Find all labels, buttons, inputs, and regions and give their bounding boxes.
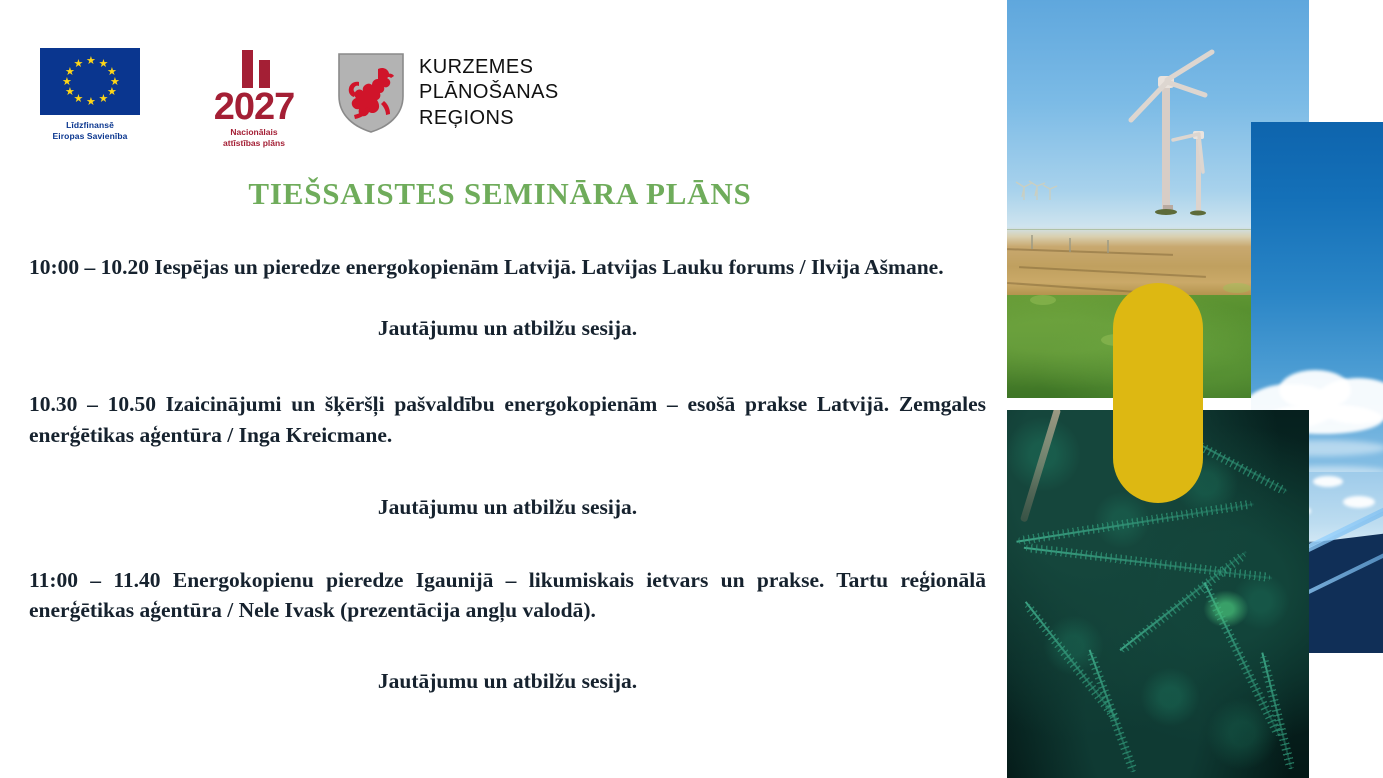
yellow-pill-shape: [1113, 283, 1203, 503]
agenda-item: 11:00 – 11.40 Energokopienu pieredze Iga…: [29, 565, 986, 697]
eu-star-icon: ★: [86, 57, 95, 66]
eu-star-icon: ★: [65, 68, 74, 77]
agenda-qa-text: Jautājumu un atbilžu sesija.: [29, 313, 986, 344]
eu-star-icon: ★: [107, 88, 116, 97]
agenda-item: 10:00 – 10.20 Iespējas un pieredze energ…: [29, 252, 986, 343]
kurzeme-coat-of-arms-icon: [337, 52, 405, 134]
logo-bar: ★ ★ ★ ★ ★ ★ ★ ★ ★ ★ ★ ★ Līdzfinansē Eiro…: [36, 48, 559, 148]
agenda-list: 10:00 – 10.20 Iespējas un pieredze energ…: [29, 252, 986, 698]
eu-caption-line-2: Eiropas Savienība: [53, 131, 128, 142]
nap-year-label: 2027: [214, 89, 295, 125]
eu-star-icon: ★: [86, 98, 95, 107]
eu-logo-caption: Līdzfinansē Eiropas Savienība: [53, 120, 128, 141]
eu-star-icon: ★: [62, 78, 71, 87]
nap-2027-logo: 2027 Nacionālais attīstības plāns: [199, 48, 309, 148]
kurzeme-planning-region-logo: KURZEMES PLĀNOŠANAS REĢIONS: [337, 48, 559, 134]
nap-caption-line-2: attīstības plāns: [223, 138, 285, 149]
eu-star-icon: ★: [74, 60, 83, 69]
nap-bars-icon: [238, 50, 270, 88]
agenda-entry-text: 10.30 – 10.50 Izaicinājumi un šķēršļi pa…: [29, 389, 986, 450]
agenda-qa-text: Jautājumu un atbilžu sesija.: [29, 666, 986, 697]
agenda-item: 10.30 – 10.50 Izaicinājumi un šķēršļi pa…: [29, 389, 986, 523]
eu-star-icon: ★: [65, 88, 74, 97]
kurzeme-region-label: KURZEMES PLĀNOŠANAS REĢIONS: [419, 55, 559, 132]
eu-logo: ★ ★ ★ ★ ★ ★ ★ ★ ★ ★ ★ ★ Līdzfinansē Eiro…: [36, 48, 144, 141]
photo-collage: [1007, 0, 1383, 778]
agenda-entry-text: 10:00 – 10.20 Iespējas un pieredze energ…: [29, 252, 986, 283]
page-title: TIEŠSAISTES SEMINĀRA PLĀNS: [0, 176, 1000, 212]
eu-star-icon: ★: [99, 95, 108, 104]
nap-caption-line-1: Nacionālais: [223, 127, 285, 138]
agenda-qa-text: Jautājumu un atbilžu sesija.: [29, 492, 986, 523]
leaf-rosette-icon: [1197, 585, 1255, 633]
european-union-flag-icon: ★ ★ ★ ★ ★ ★ ★ ★ ★ ★ ★ ★: [40, 48, 140, 115]
nap-logo-caption: Nacionālais attīstības plāns: [223, 127, 285, 148]
agenda-entry-text: 11:00 – 11.40 Energokopienu pieredze Iga…: [29, 565, 986, 626]
eu-caption-line-1: Līdzfinansē: [53, 120, 128, 131]
